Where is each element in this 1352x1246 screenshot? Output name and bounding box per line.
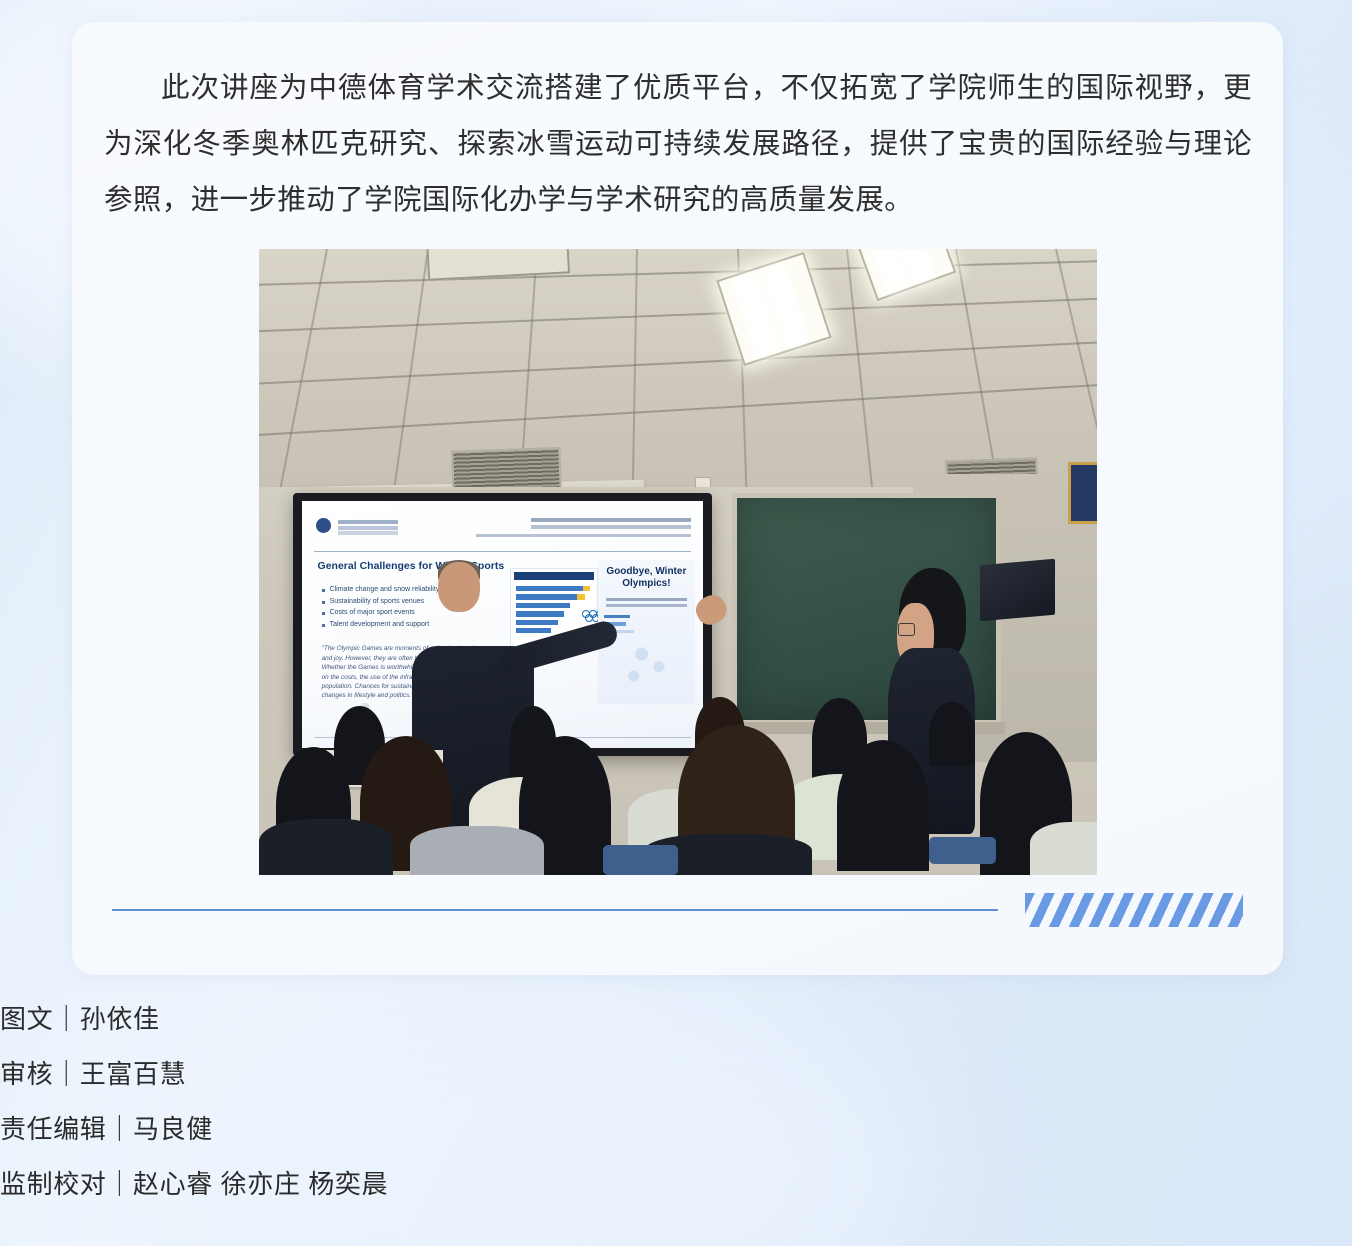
student-head [929, 702, 975, 766]
presenter-head [438, 562, 480, 612]
student-shoulders [410, 826, 544, 875]
footer-divider [112, 909, 998, 911]
credit-line-proofread: 监制校对｜赵心睿 徐亦庄 杨奕晨 [0, 1157, 560, 1212]
article-paragraph: 此次讲座为中德体育学术交流搭建了优质平台，不仅拓宽了学院师生的国际视野，更为深化… [104, 60, 1252, 228]
decorative-stripes [1025, 893, 1243, 927]
university-logo-text [338, 520, 398, 524]
university-logo-icon [316, 518, 331, 533]
student-head [837, 740, 929, 871]
student-shoulders [1030, 822, 1097, 875]
slide-right-subtitle-lines [606, 598, 687, 601]
slide-right-map [610, 632, 689, 695]
credit-line-editor: 责任编辑｜马良健 [0, 1102, 560, 1157]
wall-speaker [980, 559, 1055, 622]
credit-line-author: 图文｜孙依佳 [0, 992, 560, 1047]
photo-canvas: General Challenges for Winter Sports Cli… [259, 249, 1097, 875]
classroom-chair [929, 837, 996, 863]
slide-header-rule [314, 551, 691, 552]
credits-block: 图文｜孙依佳 审核｜王富百慧 责任编辑｜马良健 监制校对｜赵心睿 徐亦庄 杨奕晨 [0, 992, 560, 1212]
student-audience [259, 687, 1097, 875]
classroom-chair [603, 845, 678, 875]
attendee-glasses [898, 623, 915, 636]
lecture-photo: General Challenges for Winter Sports Cli… [259, 249, 1097, 875]
credit-line-reviewer: 审核｜王富百慧 [0, 1047, 560, 1102]
slide-author-line [531, 518, 691, 522]
article-card: 此次讲座为中德体育学术交流搭建了优质平台，不仅拓宽了学院师生的国际视野，更为深化… [72, 22, 1283, 975]
slide-institute-line [476, 534, 691, 537]
slide-right-title: Goodbye, Winter Olympics! [598, 566, 694, 590]
student-shoulders [259, 819, 393, 875]
wall-picture-frame [1068, 462, 1097, 525]
